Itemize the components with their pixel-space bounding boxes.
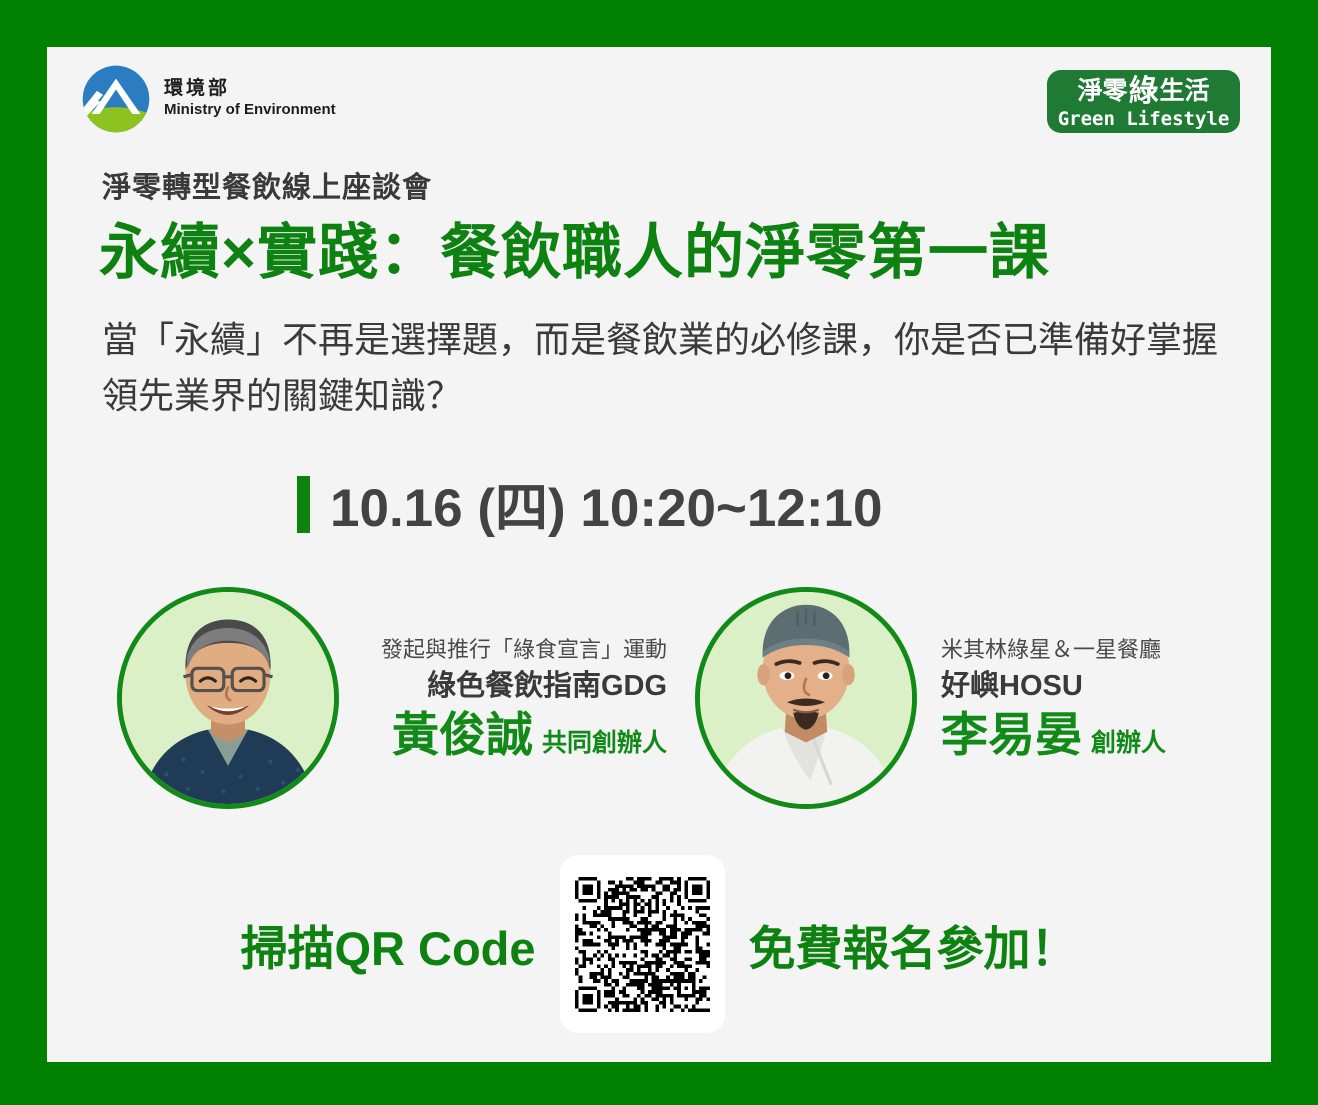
registration-cta: 掃描QR Code 免費報名參加！ bbox=[47, 855, 1271, 1033]
speaker-role: 米其林綠星＆一星餐廳 bbox=[941, 634, 1161, 666]
speaker-name-row: 黃俊誠 共同創辦人 bbox=[392, 708, 667, 762]
cta-right-label: 免費報名參加！ bbox=[749, 910, 1078, 979]
avatar bbox=[695, 587, 917, 809]
speaker-name: 李易晏 bbox=[941, 708, 1082, 762]
badge-zh-highlight: 綠 bbox=[1128, 77, 1160, 107]
speaker-info: 米其林綠星＆一星餐廳 好嶼HOSU 李易晏 創辦人 bbox=[941, 634, 1241, 763]
badge-zh-part2: 生活 bbox=[1160, 79, 1210, 104]
cta-left-label: 掃描QR Code bbox=[240, 910, 535, 979]
speaker-role: 發起與推行「綠食宣言」運動 bbox=[381, 634, 667, 666]
accent-bar-icon bbox=[297, 476, 310, 533]
speaker-info: 發起與推行「綠食宣言」運動 綠色餐飲指南GDG 黃俊誠 共同創辦人 bbox=[357, 634, 667, 763]
speaker-name-row: 李易晏 創辦人 bbox=[941, 708, 1166, 762]
speaker-organization: 綠色餐飲指南GDG bbox=[427, 666, 667, 707]
speaker-list: 發起與推行「綠食宣言」運動 綠色餐飲指南GDG 黃俊誠 共同創辦人 bbox=[47, 587, 1271, 817]
event-eyebrow: 淨零轉型餐飲線上座談會 bbox=[102, 164, 432, 206]
ministry-logo-text: 環境部 Ministry of Environment bbox=[164, 78, 336, 120]
speaker-card: 發起與推行「綠食宣言」運動 綠色餐飲指南GDG 黃俊誠 共同創辦人 bbox=[117, 587, 667, 809]
speaker-name: 黃俊誠 bbox=[392, 708, 533, 762]
green-lifestyle-badge: 淨零綠生活 Green Lifestyle bbox=[1047, 70, 1240, 133]
badge-label-en: Green Lifestyle bbox=[1058, 110, 1230, 129]
registration-qr-code-icon[interactable] bbox=[575, 877, 710, 1012]
speaker-title: 共同創辦人 bbox=[542, 729, 667, 758]
ministry-of-environment-logo-icon bbox=[82, 65, 150, 133]
ministry-logo-block: 環境部 Ministry of Environment bbox=[82, 65, 336, 133]
speaker-card: 米其林綠星＆一星餐廳 好嶼HOSU 李易晏 創辦人 bbox=[695, 587, 1241, 809]
poster-frame: 環境部 Ministry of Environment 淨零綠生活 Green … bbox=[0, 0, 1318, 1105]
badge-label-zh: 淨零綠生活 bbox=[1077, 75, 1209, 105]
qr-code-card[interactable] bbox=[560, 855, 725, 1033]
ministry-name-en: Ministry of Environment bbox=[164, 101, 336, 120]
event-datetime: 10.16 (四) 10:20~12:10 bbox=[297, 466, 882, 542]
avatar bbox=[117, 587, 339, 809]
speaker-organization: 好嶼HOSU bbox=[941, 666, 1083, 707]
event-datetime-text: 10.16 (四) 10:20~12:10 bbox=[330, 466, 882, 542]
badge-zh-part1: 淨零 bbox=[1077, 79, 1127, 104]
page-title: 永續×實踐：餐飲職人的淨零第一課 bbox=[99, 204, 1050, 291]
poster-canvas: 環境部 Ministry of Environment 淨零綠生活 Green … bbox=[47, 47, 1271, 1062]
speaker-title: 創辦人 bbox=[1091, 729, 1166, 758]
ministry-name-zh: 環境部 bbox=[164, 78, 336, 101]
event-description: 當「永續」不再是選擇題，而是餐飲業的必修課，你是否已準備好掌握領先業界的關鍵知識… bbox=[102, 312, 1232, 424]
